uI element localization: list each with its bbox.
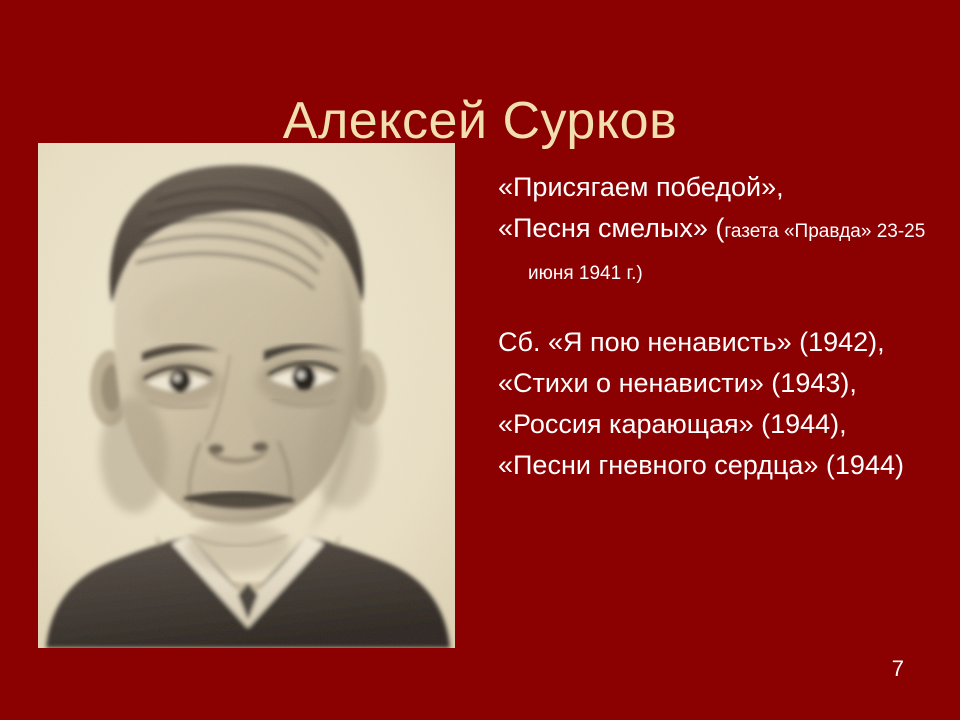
list-item: «Песня смелых» (газета «Правда» 23-25 ию… (498, 209, 930, 293)
list-item-text: «Стихи о ненависти» (1943), (498, 368, 857, 398)
list-item: «Присягаем победой», (498, 168, 930, 207)
list-item-paren: ( (715, 213, 724, 243)
list-item: «Россия карающая» (1944), (498, 405, 930, 444)
list-item-text: Сб. «Я пою ненависть» (1942), (498, 327, 885, 357)
page-title: Алексей Сурков (0, 91, 960, 151)
list-item-text: «Песня смелых» (498, 213, 715, 243)
list-item-text: «Россия карающая» (1944), (498, 409, 847, 439)
presentation-slide: Алексей Сурков (0, 0, 960, 720)
page-number: 7 (892, 656, 904, 682)
list-item: «Песни гневного сердца» (1944) (498, 446, 930, 485)
portrait-image (38, 143, 455, 648)
portrait-photo-frame (38, 143, 455, 648)
list-item: «Стихи о ненависти» (1943), (498, 364, 930, 403)
list-item: Сб. «Я пою ненависть» (1942), (498, 323, 930, 362)
list-item-text: «Песни гневного сердца» (1944) (498, 450, 904, 480)
works-list: «Присягаем победой», «Песня смелых» (газ… (498, 168, 930, 487)
list-item-text: «Присягаем победой», (498, 172, 784, 202)
